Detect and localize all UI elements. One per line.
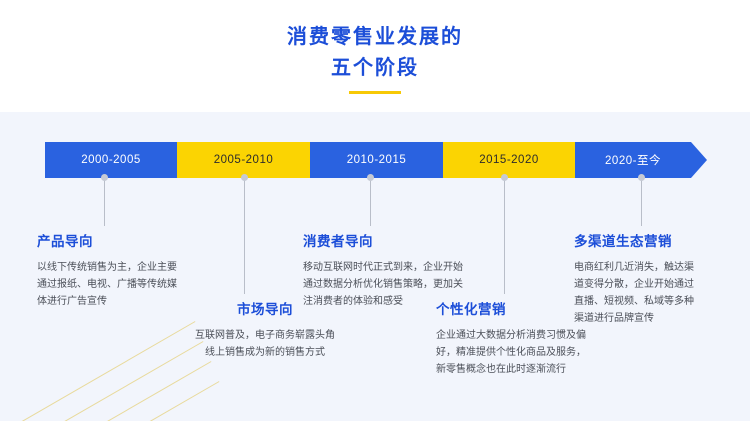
stage-description-line: 渠道进行品牌宣传 xyxy=(574,310,734,327)
stage-description: 企业通过大数据分析消费习惯及偏 好，精准提供个性化商品及服务， 新零售概念也在此… xyxy=(436,327,636,378)
connector-line-3 xyxy=(370,178,371,226)
stage-description-line: 新零售概念也在此时逐渐流行 xyxy=(436,361,636,378)
stage-description-line: 企业通过大数据分析消费习惯及偏 xyxy=(436,327,636,344)
connector-dot-5 xyxy=(638,174,645,181)
stage-description-line: 线上销售成为新的销售方式 xyxy=(170,344,360,361)
timeline-segment-2015-2020[interactable]: 2015-2020 xyxy=(443,142,575,178)
stage-description-line: 互联网普及，电子商务崭露头角 xyxy=(170,327,360,344)
stage-heading: 产品导向 xyxy=(37,230,227,250)
stage-description-line: 道变得分散，企业开始通过 xyxy=(574,276,734,293)
connector-dot-2 xyxy=(241,174,248,181)
connector-line-2 xyxy=(244,178,245,294)
stage-description-line: 移动互联网时代正式到来，企业开始 xyxy=(303,259,508,276)
timeline-segment-2010-2015[interactable]: 2010-2015 xyxy=(310,142,443,178)
connector-dot-3 xyxy=(367,174,374,181)
stage-description-line: 电商红利几近消失，触达渠 xyxy=(574,259,734,276)
stage-description-line: 直播、短视频、私域等多种 xyxy=(574,293,734,310)
stage-heading: 多渠道生态营销 xyxy=(574,230,734,250)
page-title-line-2: 五个阶段 xyxy=(0,53,750,84)
stage-description-line: 通过报纸、电视、广播等传统媒 xyxy=(37,276,227,293)
connector-dot-1 xyxy=(101,174,108,181)
stage-block-omnichannel-ecosystem-marketing: 多渠道生态营销 电商红利几近消失，触达渠 道变得分散，企业开始通过 直播、短视频… xyxy=(574,230,734,327)
stage-description: 电商红利几近消失，触达渠 道变得分散，企业开始通过 直播、短视频、私域等多种 渠… xyxy=(574,259,734,327)
stage-heading: 消费者导向 xyxy=(303,230,508,250)
stage-description: 互联网普及，电子商务崭露头角 线上销售成为新的销售方式 xyxy=(170,327,360,361)
connector-line-1 xyxy=(104,178,105,226)
title-underline xyxy=(349,91,401,94)
connector-dot-4 xyxy=(501,174,508,181)
stage-description-line: 以线下传统销售为主，企业主要 xyxy=(37,259,227,276)
page-title: 消费零售业发展的 五个阶段 xyxy=(0,22,750,94)
stage-description-line: 通过数据分析优化销售策略，更加关 xyxy=(303,276,508,293)
stage-description-line: 好，精准提供个性化商品及服务， xyxy=(436,344,636,361)
arrow-head-icon xyxy=(691,142,707,178)
timeline-bar: 2000-2005 2005-2010 2010-2015 2015-2020 … xyxy=(45,142,707,178)
timeline-segment-2000-2005[interactable]: 2000-2005 xyxy=(45,142,177,178)
page-title-line-1: 消费零售业发展的 xyxy=(0,22,750,53)
timeline-segment-2005-2010[interactable]: 2005-2010 xyxy=(177,142,310,178)
timeline-segment-2020-present[interactable]: 2020-至今 xyxy=(575,142,691,178)
infographic-page: 消费零售业发展的 五个阶段 2000-2005 2005-2010 2010-2… xyxy=(0,0,750,421)
connector-line-5 xyxy=(641,178,642,226)
